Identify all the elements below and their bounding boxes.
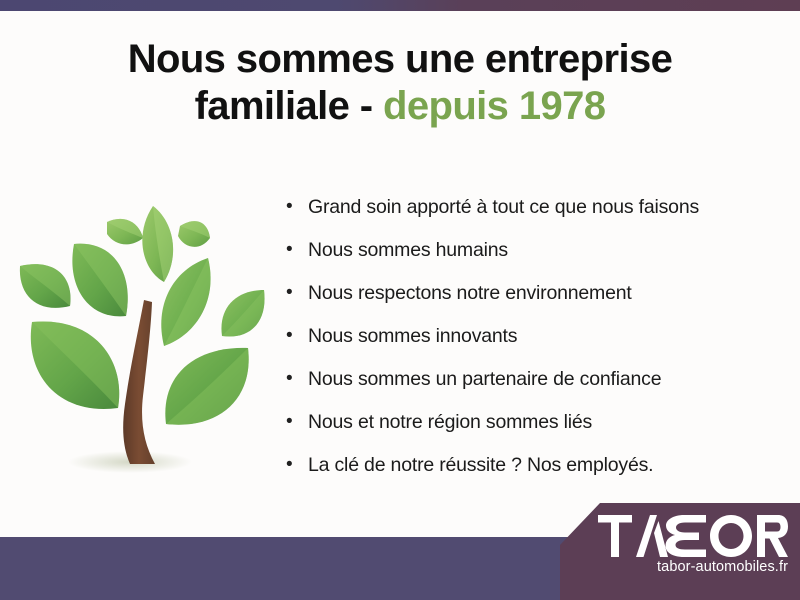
- list-item: • Nous sommes humains: [286, 235, 786, 278]
- list-item: • Nous et notre région sommes liés: [286, 407, 786, 450]
- list-item: • Nous respectons notre environnement: [286, 278, 786, 321]
- tree-illustration: [12, 182, 277, 492]
- list-item-label: La clé de notre réussite ? Nos employés.: [308, 450, 653, 480]
- list-item-label: Nous sommes un partenaire de confiance: [308, 364, 661, 394]
- slide-canvas: Nous sommes une entreprise familiale - d…: [0, 0, 800, 600]
- list-item: • Grand soin apporté à tout ce que nous …: [286, 192, 786, 235]
- list-item-label: Nous respectons notre environnement: [308, 278, 632, 308]
- list-item-label: Nous et notre région sommes liés: [308, 407, 592, 437]
- bullet-icon: •: [286, 364, 308, 394]
- bullet-icon: •: [286, 192, 308, 222]
- top-gradient-band: [0, 0, 800, 11]
- title-line-2: familiale - depuis 1978: [0, 83, 800, 130]
- bullet-icon: •: [286, 235, 308, 265]
- brand-website: tabor-automobiles.fr: [560, 559, 788, 575]
- list-item-label: Grand soin apporté à tout ce que nous fa…: [308, 192, 699, 222]
- list-item: • Nous sommes innovants: [286, 321, 786, 364]
- page-title: Nous sommes une entreprise familiale - d…: [0, 36, 800, 130]
- bullet-icon: •: [286, 407, 308, 437]
- list-item-label: Nous sommes innovants: [308, 321, 517, 351]
- list-item: • Nous sommes un partenaire de confiance: [286, 364, 786, 407]
- title-line-2-accent: depuis 1978: [383, 84, 605, 128]
- tabor-logo-icon: [598, 515, 788, 557]
- bullet-icon: •: [286, 278, 308, 308]
- list-item-label: Nous sommes humains: [308, 235, 508, 265]
- brand-logo-panel: tabor-automobiles.fr: [560, 503, 800, 600]
- tree-trunk: [123, 300, 155, 464]
- title-line-1: Nous sommes une entreprise: [0, 36, 800, 83]
- bullet-icon: •: [286, 450, 308, 480]
- bullet-icon: •: [286, 321, 308, 351]
- list-item: • La clé de notre réussite ? Nos employé…: [286, 450, 786, 493]
- title-line-2-plain: familiale -: [195, 84, 383, 128]
- value-bullet-list: • Grand soin apporté à tout ce que nous …: [286, 192, 786, 493]
